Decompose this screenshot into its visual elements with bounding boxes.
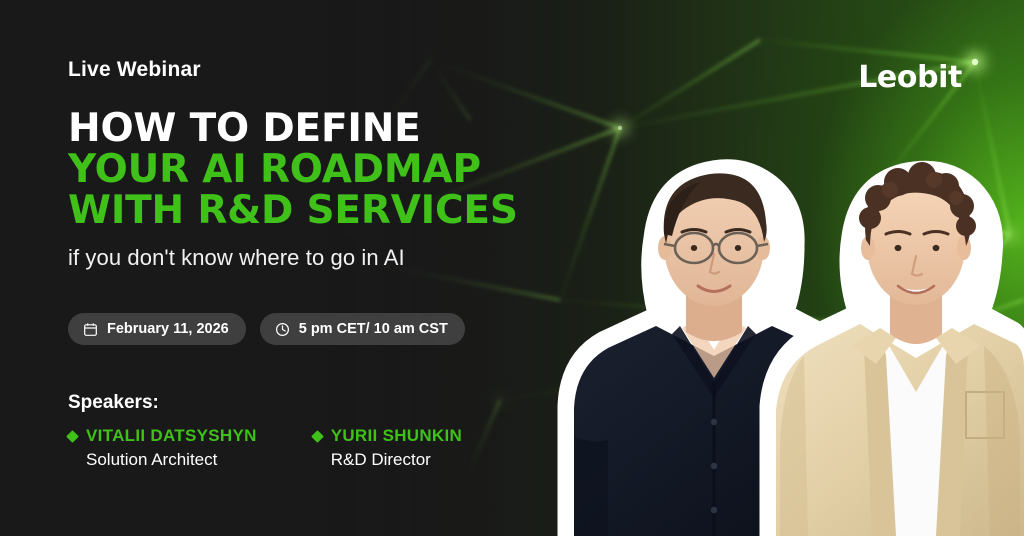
speaker-item-2: YURII SHUNKIN R&D Director [313, 426, 462, 470]
two-speakers-photo [504, 106, 1024, 536]
headline-line-2: YOUR AI ROADMAP [68, 149, 540, 190]
calendar-icon [83, 322, 98, 337]
speaker-item-1: VITALII DATSYSHYN Solution Architect [68, 426, 257, 470]
speakers-list: VITALII DATSYSHYN Solution Architect YUR… [68, 426, 540, 470]
headline-line-3: WITH R&D SERVICES [68, 190, 540, 231]
kicker-live-webinar: Live Webinar [68, 58, 540, 82]
speaker-role: Solution Architect [86, 450, 257, 470]
diamond-bullet-icon [66, 430, 79, 443]
speakers-label: Speakers: [68, 392, 540, 414]
date-badge: February 11, 2026 [68, 313, 246, 345]
speakers-section: Speakers: VITALII DATSYSHYN Solution Arc… [68, 392, 540, 470]
headline-line-1: HOW TO DEFINE [68, 108, 540, 149]
diamond-bullet-icon [311, 430, 324, 443]
leobit-logo: Leobit [858, 60, 962, 95]
speaker-role: R&D Director [331, 450, 462, 470]
speaker-name: VITALII DATSYSHYN [86, 426, 257, 446]
headline-block: HOW TO DEFINE YOUR AI ROADMAP WITH R&D S… [68, 108, 540, 231]
speaker-name: YURII SHUNKIN [331, 426, 462, 446]
time-badge: 5 pm CET/ 10 am CST [260, 313, 465, 345]
banner-content: Live Webinar HOW TO DEFINE YOUR AI ROADM… [0, 0, 540, 536]
date-badge-label: February 11, 2026 [107, 321, 229, 337]
webinar-banner: Live Webinar HOW TO DEFINE YOUR AI ROADM… [0, 0, 1024, 536]
headline-subtitle: if you don't know where to go in AI [68, 245, 540, 271]
event-details-badges: February 11, 2026 5 pm CET/ 10 am CST [68, 313, 540, 345]
speaker-right-figure [766, 162, 1024, 536]
time-badge-label: 5 pm CET/ 10 am CST [299, 321, 448, 337]
clock-icon [275, 322, 290, 337]
